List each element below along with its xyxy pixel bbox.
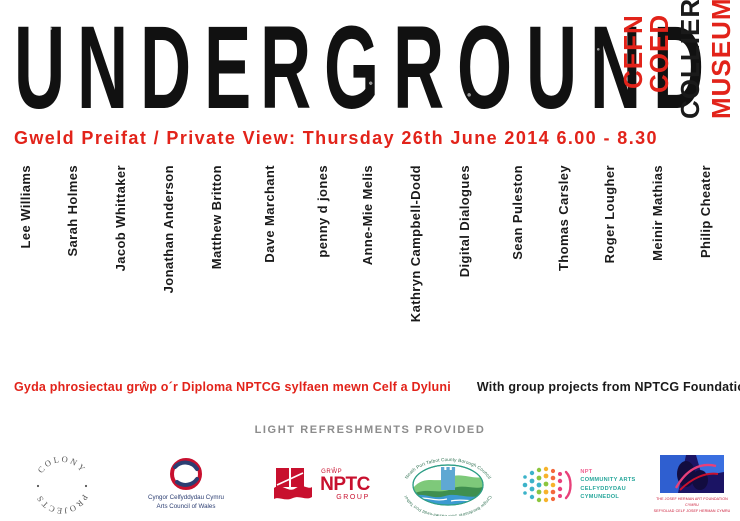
artist-name: Thomas Carsley (556, 165, 571, 271)
artist-name: Jonathan Anderson (161, 165, 176, 293)
colony-stamp-icon: COLONY PROJECTS (30, 453, 94, 517)
logo-josef-herman-art-foundation: THE JOSEF HERMAN ART FOUNDATION CYMRU SE… (652, 448, 732, 521)
community-arts-line-celfyddydau: CELFYDDYDAU (580, 485, 635, 493)
artist-name: Sarah Holmes (65, 165, 80, 257)
poster-title: U N D E R G R O U N D (14, 0, 716, 123)
josef-herman-artwork-icon (656, 454, 728, 496)
arts-council-english-label: Arts Council of Wales (157, 503, 216, 512)
projects-line-welsh: Gyda phrosiectau grŵp o´r Diploma NPTCG … (14, 380, 451, 394)
nptc-main-label: NPTC (320, 475, 370, 494)
artist-name: Meinir Mathias (650, 165, 665, 261)
logo-arts-council-wales: Cyngor Celfyddydau Cymru Arts Council of… (126, 448, 246, 521)
artist-name: Anne-Mie Melis (360, 165, 375, 265)
private-view-line: Gweld Preifat / Private View: Thursday 2… (14, 128, 726, 149)
title-letter: G (324, 0, 379, 123)
venue-line-museum: MUSEUM (708, 14, 734, 119)
artist-name: Jacob Whittaker (113, 165, 128, 271)
sponsor-logo-strip: COLONY PROJECTS Cyn (0, 448, 740, 521)
title-letter: U (14, 0, 65, 123)
nptc-book-icon (270, 464, 316, 506)
artist-name: Lee Williams (18, 165, 33, 248)
artist-name: Roger Lougher (602, 165, 617, 263)
artist-name: penny d jones (315, 165, 330, 258)
venue-line-colliery: COLLIERY (677, 14, 703, 119)
venue-name-stack: CEFN COED COLLIERY MUSEUM (615, 14, 734, 119)
arts-council-welsh-label: Cyngor Celfyddydau Cymru (148, 494, 224, 503)
venue-line-cefn-coed: CEFN COED (620, 14, 672, 119)
projects-line-english: With group projects from NPTCG Foundatio… (477, 380, 740, 394)
artist-name: Sean Puleston (510, 165, 525, 260)
josef-herman-label-english: THE JOSEF HERMAN ART FOUNDATION CYMRU (652, 497, 732, 509)
title-letter: N (77, 0, 128, 123)
josef-herman-label-welsh: SEFYDLIAD CELF JOSEF HERMAN CYMRU (654, 509, 731, 515)
svg-text:COLONY: COLONY (35, 453, 88, 474)
artist-name: Digital Dialogues (457, 165, 472, 277)
poster-canvas: U N D E R G R O U N D CEFN COED COLLIERY… (0, 0, 740, 521)
community-arts-line-english: COMMUNITY ARTS (580, 476, 635, 484)
projects-line: Gyda phrosiectau grŵp o´r Diploma NPTCG … (14, 380, 726, 394)
refreshments-note: LIGHT REFRESHMENTS PROVIDED (0, 424, 740, 436)
logo-npt-community-arts: NPT COMMUNITY ARTS CELFYDDYDAU CYMUNEDOL (516, 448, 640, 521)
title-letter: R (393, 0, 444, 123)
community-arts-line-cymunedol: CYMUNEDOL (580, 493, 635, 501)
logo-colony-projects: COLONY PROJECTS (14, 448, 110, 521)
artist-name: Philip Cheater (698, 165, 713, 258)
nptc-group-label: GROUP (336, 494, 370, 501)
arts-council-swirl-icon (169, 457, 203, 491)
community-arts-dot-burst-icon (520, 463, 578, 507)
title-letter: R (260, 0, 311, 123)
artist-name-list: Lee Williams Sarah Holmes Jacob Whittake… (0, 165, 740, 365)
npt-council-crest-icon: Neath Port Talbot County Borough Council… (393, 454, 503, 516)
artist-name: Matthew Britton (209, 165, 224, 269)
artist-name: Kathryn Campbell-Dodd (408, 165, 423, 322)
title-letter: E (204, 0, 251, 123)
title-letter: D (140, 0, 191, 123)
title-letter: O (457, 0, 512, 123)
poster-title-row: U N D E R G R O U N D CEFN COED COLLIERY… (0, 0, 740, 130)
svg-text:PROJECTS: PROJECTS (34, 493, 91, 516)
community-arts-line-npt: NPT (580, 468, 635, 476)
logo-nptc-group: GRŴP NPTC GROUP (262, 448, 378, 521)
artist-name: Dave Marchant (262, 165, 277, 263)
logo-npt-county-borough-council: Neath Port Talbot County Borough Council… (392, 448, 504, 521)
title-letter: U (526, 0, 577, 123)
